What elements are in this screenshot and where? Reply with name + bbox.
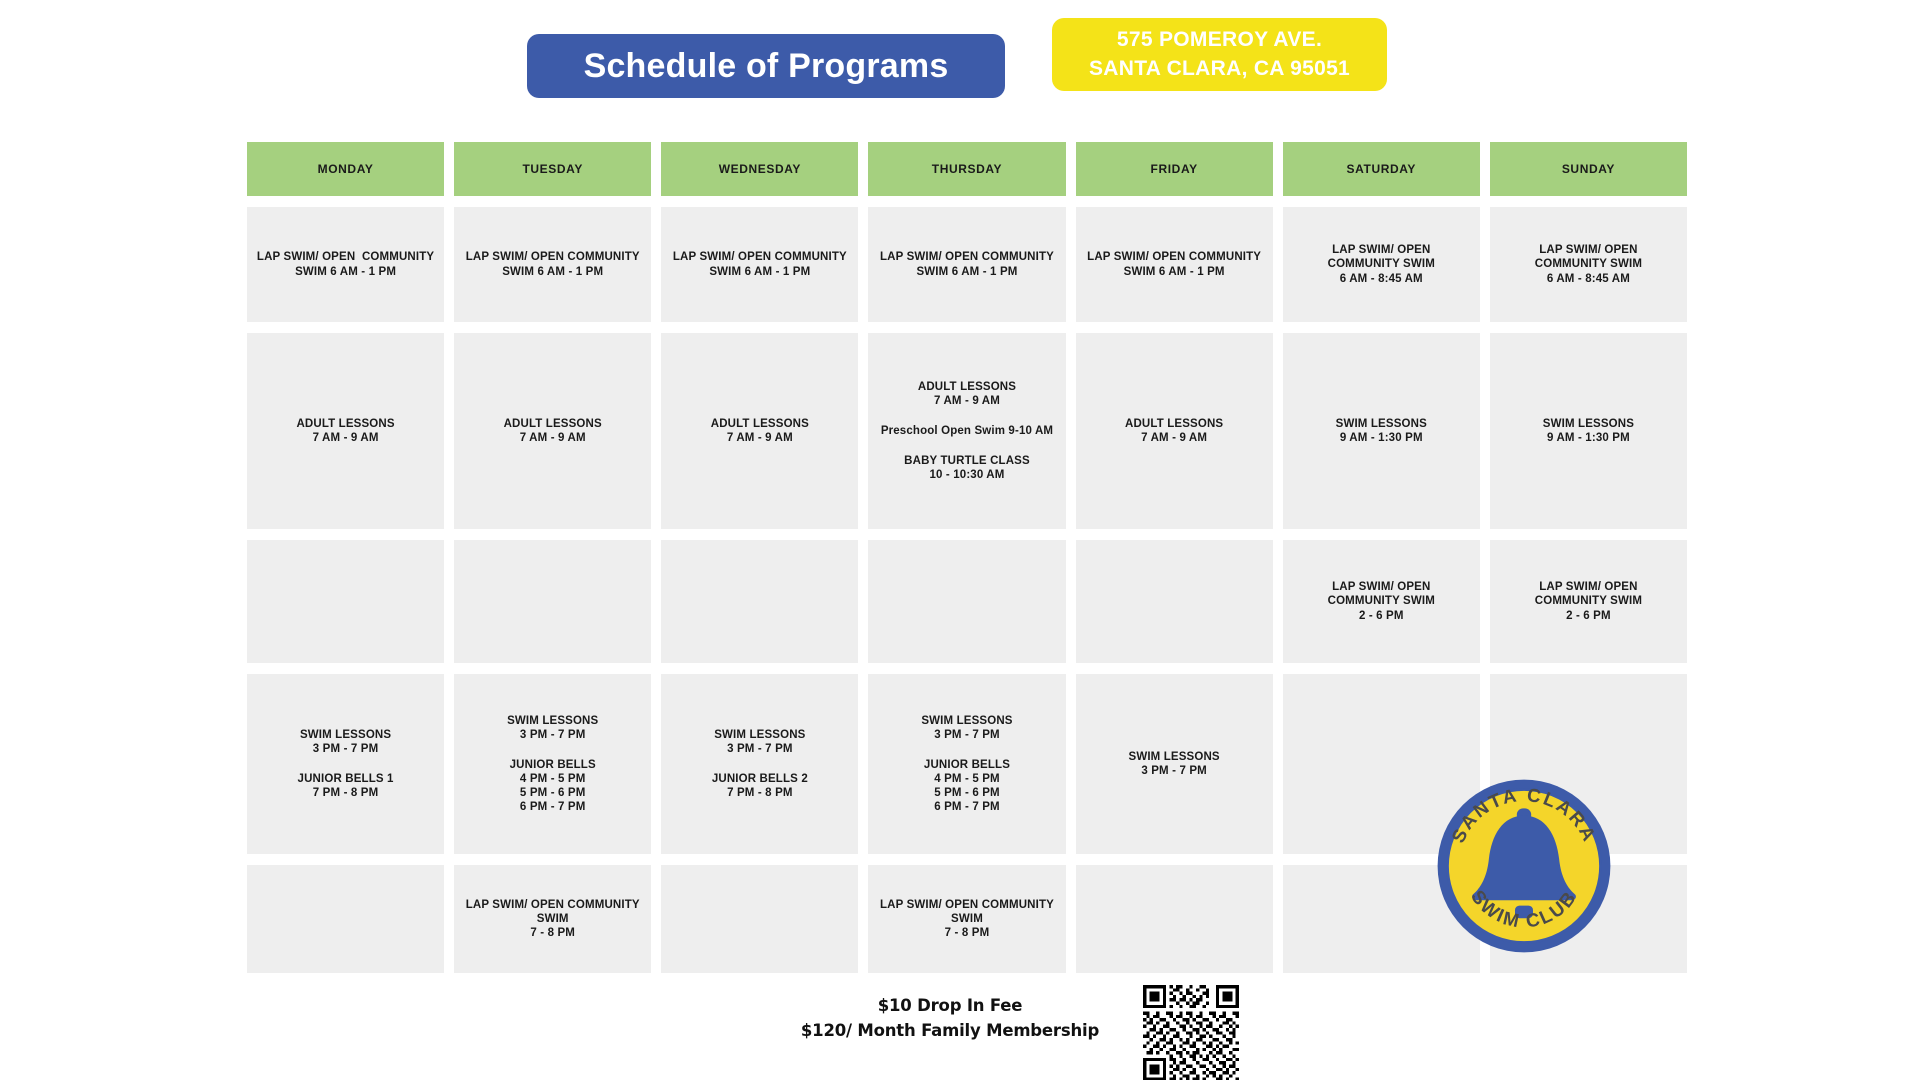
program-time: 7 - 8 PM: [466, 926, 640, 940]
program-entry: SWIM LESSONS3 PM - 7 PM: [714, 728, 805, 756]
program-entry: JUNIOR BELLS4 PM - 5 PM5 PM - 6 PM6 PM -…: [510, 758, 596, 814]
program-time: 7 AM - 9 AM: [918, 394, 1016, 408]
program-time: 3 PM - 7 PM: [507, 728, 598, 742]
program-entry: SWIM LESSONS3 PM - 7 PM: [300, 728, 391, 756]
program-time: 7 AM - 9 AM: [504, 431, 602, 445]
schedule-cell: LAP SWIM/ OPEN COMMUNITYSWIM7 - 8 PM: [868, 865, 1065, 973]
schedule-cell: ADULT LESSONS7 AM - 9 AM: [1076, 333, 1273, 529]
program-time: COMMUNITY SWIM: [1328, 594, 1435, 608]
day-column: THURSDAYLAP SWIM/ OPEN COMMUNITYSWIM 6 A…: [868, 142, 1075, 984]
schedule-cell: LAP SWIM/ OPEN COMMUNITYSWIM 6 AM - 1 PM: [454, 207, 651, 322]
program-name: ADULT LESSONS: [504, 417, 602, 431]
address-line-1: 575 POMEROY AVE.: [1117, 27, 1322, 53]
day-column: WEDNESDAYLAP SWIM/ OPEN COMMUNITYSWIM 6 …: [661, 142, 868, 984]
program-entry: SWIM LESSONS3 PM - 7 PM: [921, 714, 1012, 742]
program-time: SWIM 6 AM - 1 PM: [1087, 265, 1261, 279]
program-time: 7 AM - 9 AM: [296, 431, 394, 445]
program-name: LAP SWIM/ OPEN COMMUNITY: [880, 250, 1054, 264]
schedule-cell: LAP SWIM/ OPEN COMMUNITYSWIM 6 AM - 1 PM: [868, 207, 1065, 322]
schedule-poster: Schedule of Programs 575 POMEROY AVE. SA…: [0, 0, 1920, 1080]
program-name: SWIM LESSONS: [507, 714, 598, 728]
qr-code-icon: [1143, 985, 1239, 1080]
program-name: ADULT LESSONS: [918, 380, 1016, 394]
day-header-wednesday: WEDNESDAY: [661, 142, 858, 196]
day-header-monday: MONDAY: [247, 142, 444, 196]
program-time: 6 PM - 7 PM: [510, 800, 596, 814]
day-header-tuesday: TUESDAY: [454, 142, 651, 196]
schedule-cell: SWIM LESSONS3 PM - 7 PMJUNIOR BELLS4 PM …: [454, 674, 651, 854]
program-entry: LAP SWIM/ OPENCOMMUNITY SWIM2 - 6 PM: [1535, 580, 1642, 622]
day-column: MONDAYLAP SWIM/ OPEN COMMUNITYSWIM 6 AM …: [247, 142, 454, 984]
program-entry: SWIM LESSONS9 AM - 1:30 PM: [1543, 417, 1634, 445]
program-entry: SWIM LESSONS9 AM - 1:30 PM: [1336, 417, 1427, 445]
program-time: 3 PM - 7 PM: [1129, 764, 1220, 778]
program-time: 7 PM - 8 PM: [712, 786, 808, 800]
day-column: TUESDAYLAP SWIM/ OPEN COMMUNITYSWIM 6 AM…: [454, 142, 661, 984]
program-entry: ADULT LESSONS7 AM - 9 AM: [296, 417, 394, 445]
program-entry: ADULT LESSONS7 AM - 9 AM: [711, 417, 809, 445]
santa-clara-swim-club-logo: SANTA CLARA SWIM CLUB: [1434, 776, 1614, 956]
program-name: BABY TURTLE CLASS: [904, 454, 1030, 468]
day-header-label: WEDNESDAY: [719, 162, 801, 176]
schedule-cell: LAP SWIM/ OPENCOMMUNITY SWIM2 - 6 PM: [1283, 540, 1480, 663]
schedule-cell: [247, 865, 444, 973]
program-entry: ADULT LESSONS7 AM - 9 AM: [918, 380, 1016, 408]
program-entry: Preschool Open Swim 9-10 AM: [881, 424, 1053, 438]
program-time: 7 AM - 9 AM: [1125, 431, 1223, 445]
program-time: 6 PM - 7 PM: [924, 800, 1010, 814]
schedule-cell: SWIM LESSONS3 PM - 7 PMJUNIOR BELLS4 PM …: [868, 674, 1065, 854]
program-time: 3 PM - 7 PM: [921, 728, 1012, 742]
schedule-cell: ADULT LESSONS7 AM - 9 AMPreschool Open S…: [868, 333, 1065, 529]
schedule-cell: ADULT LESSONS7 AM - 9 AM: [247, 333, 444, 529]
program-name: LAP SWIM/ OPEN COMMUNITY: [673, 250, 847, 264]
day-header-label: SATURDAY: [1347, 162, 1416, 176]
program-time: SWIM 6 AM - 1 PM: [466, 265, 640, 279]
program-time: SWIM 6 AM - 1 PM: [257, 265, 434, 279]
schedule-cell: [661, 540, 858, 663]
program-time: 7 PM - 8 PM: [298, 786, 394, 800]
program-entry: LAP SWIM/ OPEN COMMUNITYSWIM7 - 8 PM: [466, 898, 640, 940]
program-entry: LAP SWIM/ OPEN COMMUNITYSWIM 6 AM - 1 PM: [257, 250, 434, 278]
program-time: SWIM 6 AM - 1 PM: [880, 265, 1054, 279]
program-time: COMMUNITY SWIM: [1328, 257, 1435, 271]
program-time: COMMUNITY SWIM: [1535, 594, 1642, 608]
program-time: SWIM: [466, 912, 640, 926]
page-title: Schedule of Programs: [527, 34, 1005, 98]
program-entry: BABY TURTLE CLASS10 - 10:30 AM: [904, 454, 1030, 482]
day-header-label: SUNDAY: [1562, 162, 1615, 176]
program-name: JUNIOR BELLS: [510, 758, 596, 772]
schedule-cell: LAP SWIM/ OPEN COMMUNITYSWIM 6 AM - 1 PM: [1076, 207, 1273, 322]
drop-in-fee: $10 Drop In Fee: [790, 994, 1110, 1019]
program-entry: ADULT LESSONS7 AM - 9 AM: [504, 417, 602, 445]
program-time: 3 PM - 7 PM: [714, 742, 805, 756]
program-name: Preschool Open Swim 9-10 AM: [881, 424, 1053, 438]
program-time: 9 AM - 1:30 PM: [1336, 431, 1427, 445]
program-name: LAP SWIM/ OPEN: [1328, 243, 1435, 257]
program-name: LAP SWIM/ OPEN: [1535, 243, 1642, 257]
program-time: 9 AM - 1:30 PM: [1543, 431, 1634, 445]
page-title-text: Schedule of Programs: [584, 47, 949, 86]
program-name: ADULT LESSONS: [1125, 417, 1223, 431]
program-name: SWIM LESSONS: [1543, 417, 1634, 431]
day-header-friday: FRIDAY: [1076, 142, 1273, 196]
program-time: 5 PM - 6 PM: [510, 786, 596, 800]
program-name: SWIM LESSONS: [921, 714, 1012, 728]
program-name: ADULT LESSONS: [296, 417, 394, 431]
day-header-sunday: SUNDAY: [1490, 142, 1687, 196]
schedule-cell: [868, 540, 1065, 663]
program-time: 6 AM - 8:45 AM: [1328, 272, 1435, 286]
program-time: 4 PM - 5 PM: [510, 772, 596, 786]
schedule-cell: LAP SWIM/ OPEN COMMUNITYSWIM 6 AM - 1 PM: [247, 207, 444, 322]
schedule-cell: SWIM LESSONS9 AM - 1:30 PM: [1283, 333, 1480, 529]
schedule-cell: [1076, 865, 1273, 973]
day-column: FRIDAYLAP SWIM/ OPEN COMMUNITYSWIM 6 AM …: [1076, 142, 1283, 984]
program-name: JUNIOR BELLS 1: [298, 772, 394, 786]
program-name: LAP SWIM/ OPEN COMMUNITY: [466, 250, 640, 264]
membership-fee: $120/ Month Family Membership: [790, 1019, 1110, 1044]
program-time: 4 PM - 5 PM: [924, 772, 1010, 786]
schedule-cell: [247, 540, 444, 663]
schedule-cell: LAP SWIM/ OPENCOMMUNITY SWIM6 AM - 8:45 …: [1283, 207, 1480, 322]
program-time: 7 - 8 PM: [880, 926, 1054, 940]
program-name: JUNIOR BELLS 2: [712, 772, 808, 786]
day-header-label: MONDAY: [318, 162, 374, 176]
program-time: 5 PM - 6 PM: [924, 786, 1010, 800]
program-time: 2 - 6 PM: [1328, 609, 1435, 623]
fees-block: $10 Drop In Fee $120/ Month Family Membe…: [790, 994, 1110, 1044]
program-name: SWIM LESSONS: [1129, 750, 1220, 764]
program-time: SWIM: [880, 912, 1054, 926]
day-header-label: TUESDAY: [522, 162, 582, 176]
schedule-cell: ADULT LESSONS7 AM - 9 AM: [661, 333, 858, 529]
program-time: SWIM 6 AM - 1 PM: [673, 265, 847, 279]
poster-header: Schedule of Programs 575 POMEROY AVE. SA…: [0, 0, 1920, 115]
schedule-cell: SWIM LESSONS3 PM - 7 PM: [1076, 674, 1273, 854]
program-name: SWIM LESSONS: [1336, 417, 1427, 431]
program-time: 10 - 10:30 AM: [904, 468, 1030, 482]
program-entry: SWIM LESSONS3 PM - 7 PM: [1129, 750, 1220, 778]
program-time: 7 AM - 9 AM: [711, 431, 809, 445]
program-name: JUNIOR BELLS: [924, 758, 1010, 772]
day-header-label: THURSDAY: [932, 162, 1002, 176]
schedule-cell: SWIM LESSONS3 PM - 7 PMJUNIOR BELLS 17 P…: [247, 674, 444, 854]
program-name: LAP SWIM/ OPEN: [1328, 580, 1435, 594]
day-header-label: FRIDAY: [1151, 162, 1198, 176]
program-entry: JUNIOR BELLS 27 PM - 8 PM: [712, 772, 808, 800]
schedule-cell: [454, 540, 651, 663]
program-name: ADULT LESSONS: [711, 417, 809, 431]
program-name: SWIM LESSONS: [714, 728, 805, 742]
program-name: LAP SWIM/ OPEN COMMUNITY: [257, 250, 434, 264]
program-time: 6 AM - 8:45 AM: [1535, 272, 1642, 286]
program-entry: LAP SWIM/ OPEN COMMUNITYSWIM 6 AM - 1 PM: [880, 250, 1054, 278]
program-entry: JUNIOR BELLS 17 PM - 8 PM: [298, 772, 394, 800]
program-entry: LAP SWIM/ OPEN COMMUNITYSWIM 6 AM - 1 PM: [673, 250, 847, 278]
program-name: SWIM LESSONS: [300, 728, 391, 742]
program-entry: SWIM LESSONS3 PM - 7 PM: [507, 714, 598, 742]
schedule-cell: SWIM LESSONS3 PM - 7 PMJUNIOR BELLS 27 P…: [661, 674, 858, 854]
club-bell-logo-icon: SANTA CLARA SWIM CLUB: [1434, 776, 1614, 956]
program-entry: LAP SWIM/ OPEN COMMUNITYSWIM 6 AM - 1 PM: [1087, 250, 1261, 278]
program-name: LAP SWIM/ OPEN: [1535, 580, 1642, 594]
schedule-cell: LAP SWIM/ OPENCOMMUNITY SWIM6 AM - 8:45 …: [1490, 207, 1687, 322]
program-time: COMMUNITY SWIM: [1535, 257, 1642, 271]
schedule-cell: LAP SWIM/ OPENCOMMUNITY SWIM2 - 6 PM: [1490, 540, 1687, 663]
day-header-saturday: SATURDAY: [1283, 142, 1480, 196]
address-line-2: SANTA CLARA, CA 95051: [1089, 56, 1350, 82]
poster-footer: $10 Drop In Fee $120/ Month Family Membe…: [0, 985, 1920, 1080]
program-entry: LAP SWIM/ OPEN COMMUNITYSWIM7 - 8 PM: [880, 898, 1054, 940]
program-time: 3 PM - 7 PM: [300, 742, 391, 756]
schedule-cell: SWIM LESSONS9 AM - 1:30 PM: [1490, 333, 1687, 529]
program-entry: LAP SWIM/ OPEN COMMUNITYSWIM 6 AM - 1 PM: [466, 250, 640, 278]
program-entry: ADULT LESSONS7 AM - 9 AM: [1125, 417, 1223, 445]
program-name: LAP SWIM/ OPEN COMMUNITY: [880, 898, 1054, 912]
schedule-cell: LAP SWIM/ OPEN COMMUNITYSWIM 6 AM - 1 PM: [661, 207, 858, 322]
qr-code[interactable]: [1143, 985, 1239, 1080]
day-header-thursday: THURSDAY: [868, 142, 1065, 196]
address-badge: 575 POMEROY AVE. SANTA CLARA, CA 95051: [1052, 18, 1387, 91]
schedule-cell: [661, 865, 858, 973]
program-name: LAP SWIM/ OPEN COMMUNITY: [466, 898, 640, 912]
program-time: 2 - 6 PM: [1535, 609, 1642, 623]
program-entry: JUNIOR BELLS4 PM - 5 PM5 PM - 6 PM6 PM -…: [924, 758, 1010, 814]
program-entry: LAP SWIM/ OPENCOMMUNITY SWIM2 - 6 PM: [1328, 580, 1435, 622]
schedule-cell: ADULT LESSONS7 AM - 9 AM: [454, 333, 651, 529]
program-entry: LAP SWIM/ OPENCOMMUNITY SWIM6 AM - 8:45 …: [1535, 243, 1642, 285]
program-entry: LAP SWIM/ OPENCOMMUNITY SWIM6 AM - 8:45 …: [1328, 243, 1435, 285]
schedule-cell: [1076, 540, 1273, 663]
schedule-cell: LAP SWIM/ OPEN COMMUNITYSWIM7 - 8 PM: [454, 865, 651, 973]
program-name: LAP SWIM/ OPEN COMMUNITY: [1087, 250, 1261, 264]
